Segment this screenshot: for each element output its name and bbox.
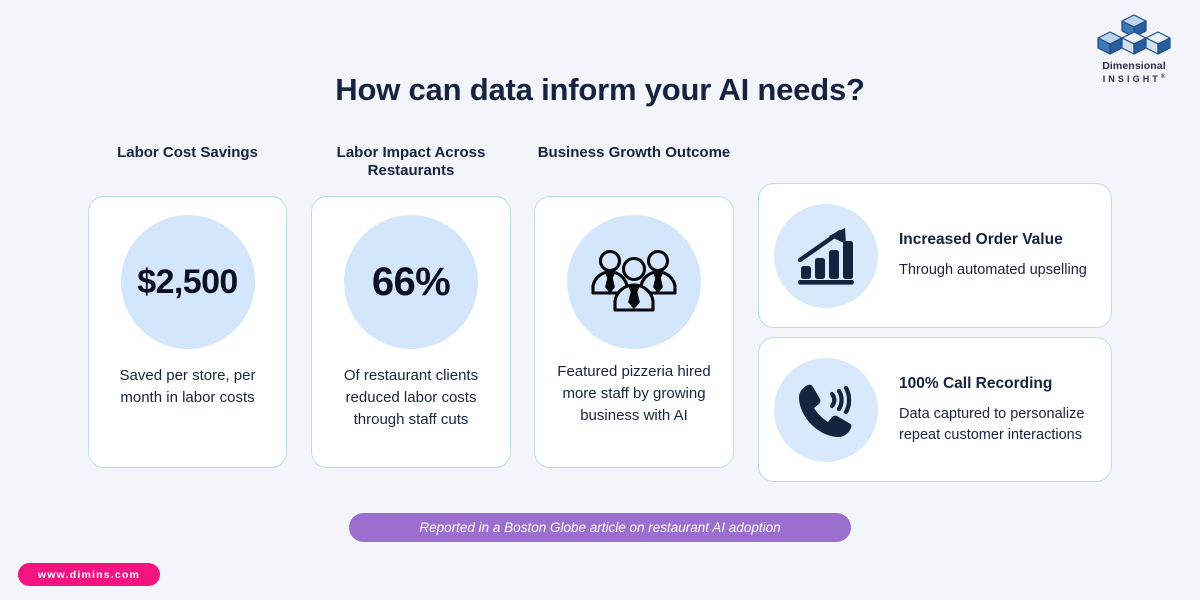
feature-body: Data captured to personalize repeat cust…: [899, 404, 1097, 445]
feature-icon-circle: [774, 204, 878, 308]
stat-card-labor-cost-savings: $2,500 Saved per store, per month in lab…: [88, 196, 287, 468]
stat-value: 66%: [372, 260, 450, 305]
stat-circle: [567, 215, 701, 349]
feature-card-call-recording: 100% Call Recording Data captured to per…: [758, 337, 1112, 482]
bar-chart-growth-arrow-icon: [794, 224, 858, 288]
stat-card-labor-impact: 66% Of restaurant clients reduced labor …: [311, 196, 511, 468]
stat-caption: Featured pizzeria hired more staff by gr…: [545, 361, 723, 427]
feature-text: Increased Order Value Through automated …: [878, 230, 1111, 281]
page-title: How can data inform your AI needs?: [0, 72, 1200, 108]
column-header-labor-cost-savings: Labor Cost Savings: [88, 144, 287, 162]
column-header-business-growth: Business Growth Outcome: [534, 144, 734, 162]
feature-text: 100% Call Recording Data captured to per…: [878, 374, 1111, 446]
feature-title: 100% Call Recording: [899, 374, 1097, 393]
dimensional-insight-cubes-logo-icon: [1086, 12, 1182, 60]
feature-title: Increased Order Value: [899, 230, 1097, 249]
stat-circle: 66%: [344, 215, 478, 349]
infographic-page: Dimensional INSIGHT® How can data inform…: [0, 0, 1200, 600]
feature-card-increased-order-value: Increased Order Value Through automated …: [758, 183, 1112, 328]
feature-icon-circle: [774, 358, 878, 462]
stat-circle: $2,500: [121, 215, 255, 349]
stat-caption: Saved per store, per month in labor cost…: [99, 365, 276, 409]
feature-body: Through automated upselling: [899, 260, 1097, 281]
brand-name: Dimensional: [1086, 61, 1182, 73]
stat-caption: Of restaurant clients reduced labor cost…: [322, 365, 500, 431]
group-of-people-icon: [588, 246, 680, 318]
website-url-badge[interactable]: www.dimins.com: [18, 563, 160, 586]
column-header-labor-impact: Labor Impact Across Restaurants: [311, 144, 511, 181]
phone-call-ringing-icon: [794, 378, 858, 442]
source-banner: Reported in a Boston Globe article on re…: [349, 513, 851, 542]
stat-card-business-growth: Featured pizzeria hired more staff by gr…: [534, 196, 734, 468]
stat-value: $2,500: [137, 263, 237, 302]
